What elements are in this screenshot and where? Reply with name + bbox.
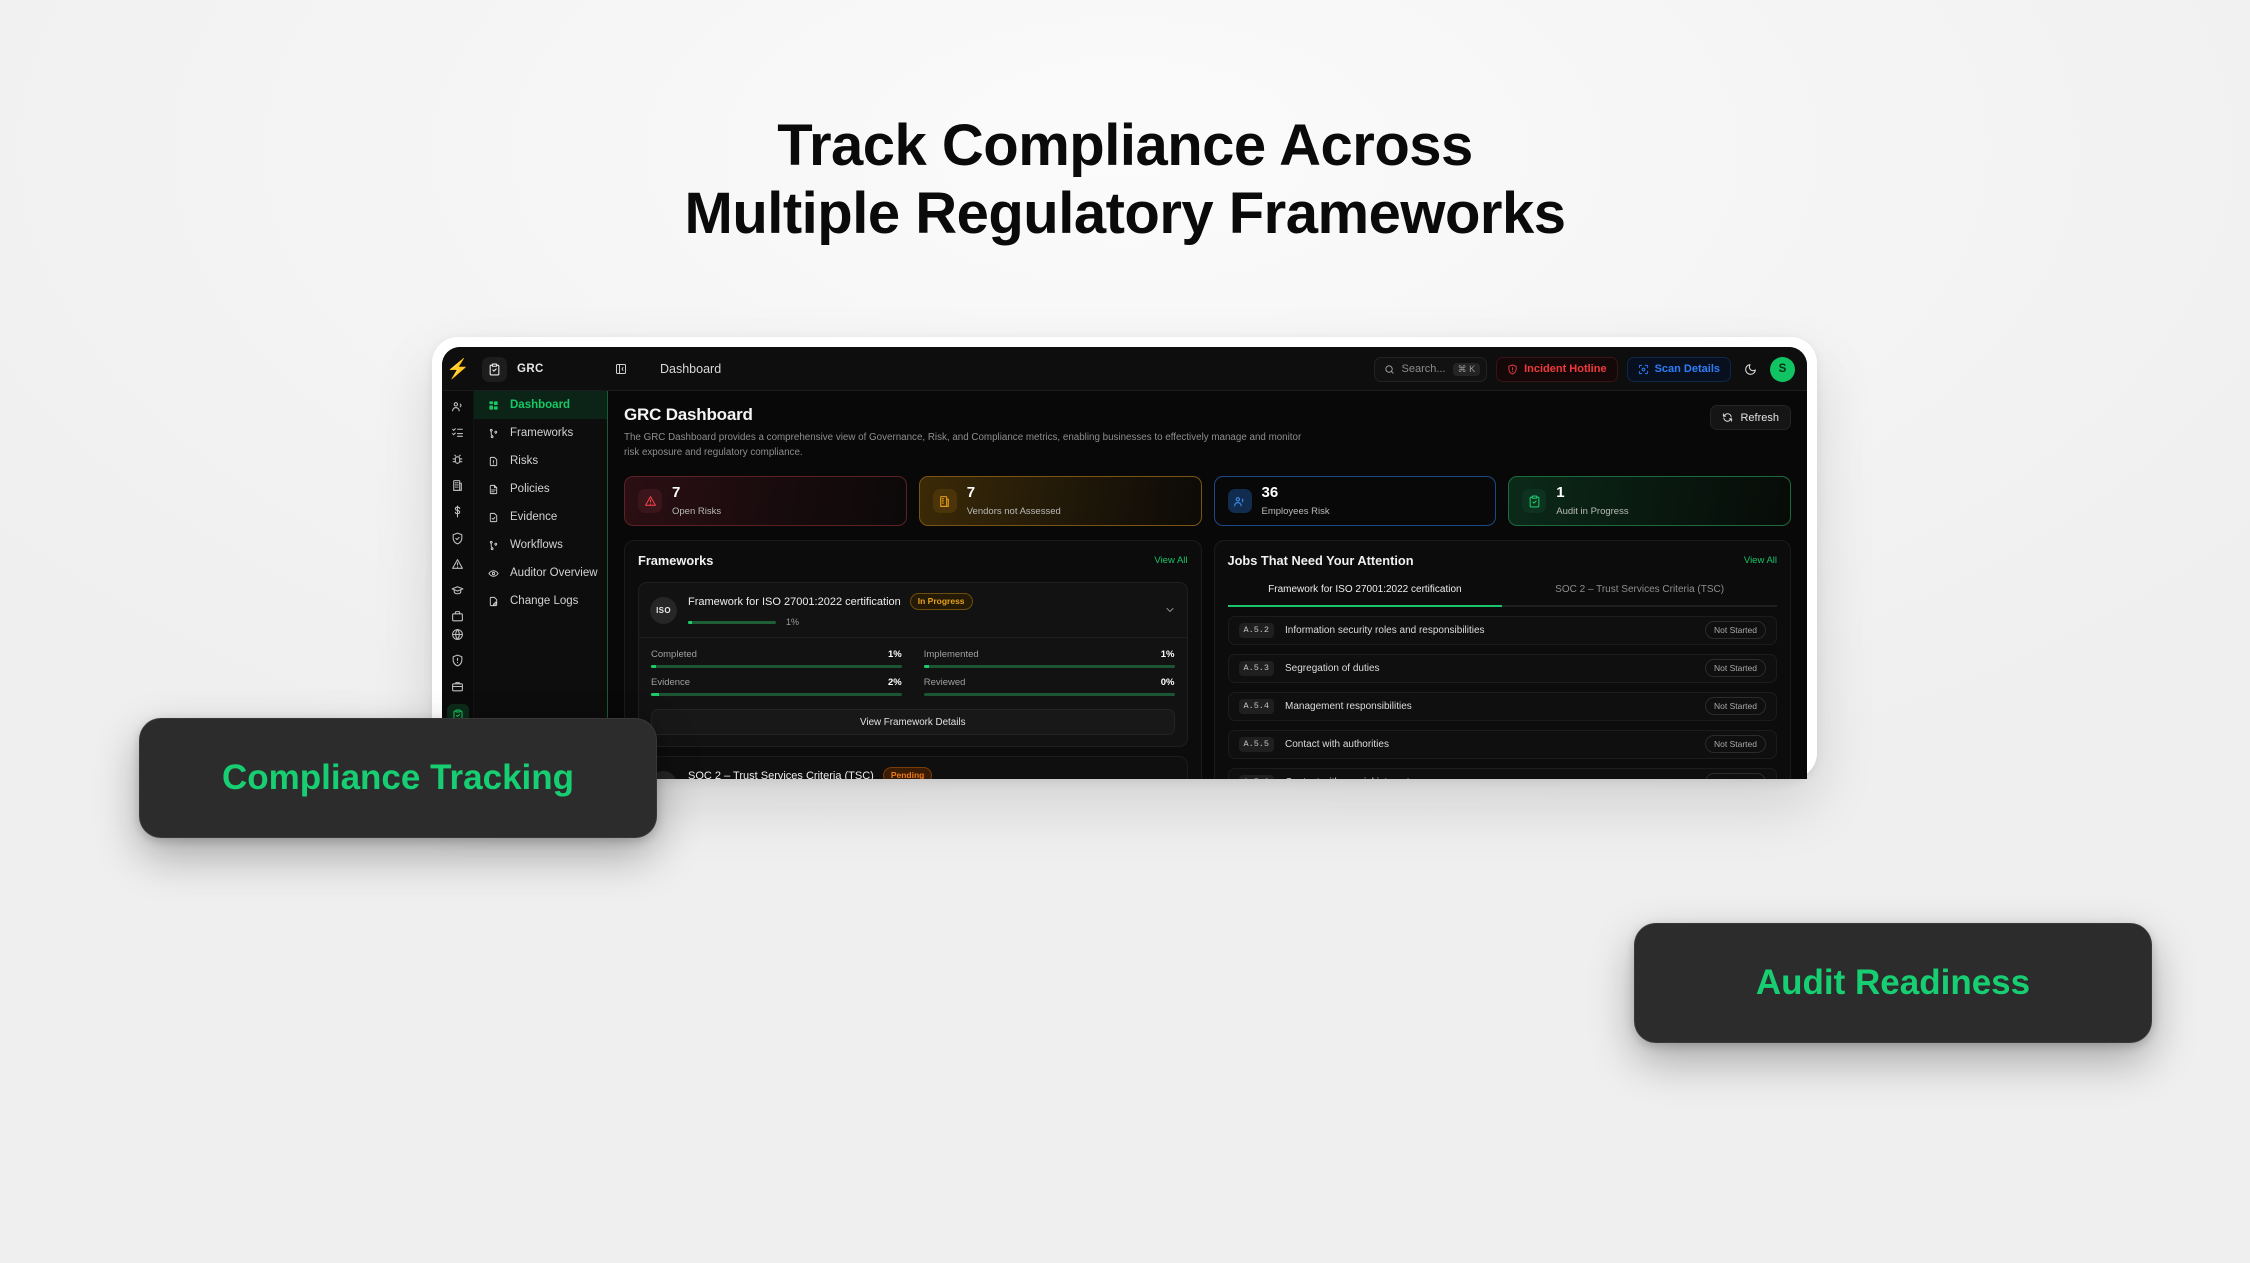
search-input[interactable]: Search... ⌘ K xyxy=(1374,357,1488,382)
sidebar-item-label: Evidence xyxy=(510,511,557,523)
file-alert-icon xyxy=(487,455,500,468)
sidebar-item-frameworks[interactable]: Frameworks xyxy=(474,419,607,447)
shield-exclamation-icon[interactable] xyxy=(442,652,474,669)
control-code: A.5.5 xyxy=(1239,737,1275,752)
sidebar-item-workflows[interactable]: Workflows xyxy=(474,531,607,559)
job-title: Contact with special interest groups xyxy=(1285,777,1443,779)
stat-value: 1 xyxy=(1556,484,1628,501)
metric-bar xyxy=(651,665,902,668)
logo-area[interactable]: ⚡ xyxy=(442,347,474,391)
sidebar-item-label: Risks xyxy=(510,455,538,467)
framework-list-item[interactable]: SOC SOC 2 – Trust Services Criteria (TSC… xyxy=(638,756,1188,779)
status-badge: Not Started xyxy=(1705,697,1766,715)
sidebar-item-change-logs[interactable]: Change Logs xyxy=(474,587,607,615)
job-title: Management responsibilities xyxy=(1285,701,1412,712)
app-name: GRC xyxy=(517,363,544,375)
status-badge: Not Started xyxy=(1705,621,1766,639)
progress-bar xyxy=(688,621,776,624)
stat-card-vendors-not-assessed[interactable]: 7 Vendors not Assessed xyxy=(919,476,1202,526)
stat-label: Audit in Progress xyxy=(1556,506,1628,517)
jobs-panel-title: Jobs That Need Your Attention xyxy=(1228,553,1414,568)
refresh-label: Refresh xyxy=(1740,412,1779,424)
job-title: Contact with authorities xyxy=(1285,739,1389,750)
dollar-icon[interactable] xyxy=(442,503,474,520)
stat-label: Open Risks xyxy=(672,506,721,517)
framework-title: SOC 2 – Trust Services Criteria (TSC) xyxy=(688,770,874,779)
sidebar-item-label: Policies xyxy=(510,483,550,495)
bug-icon[interactable] xyxy=(442,451,474,468)
sidebar-item-policies[interactable]: Policies xyxy=(474,475,607,503)
stat-label: Vendors not Assessed xyxy=(967,506,1061,517)
panel-collapse-icon[interactable] xyxy=(612,360,630,378)
jobs-panel: Jobs That Need Your Attention View All F… xyxy=(1214,540,1792,779)
brand-block[interactable]: GRC xyxy=(474,347,640,391)
stat-card-open-risks[interactable]: 7 Open Risks xyxy=(624,476,907,526)
tab-iso-27001[interactable]: Framework for ISO 27001:2022 certificati… xyxy=(1228,583,1503,607)
sidebar-item-risks[interactable]: Risks xyxy=(474,447,607,475)
shield-alert-icon xyxy=(1507,364,1518,375)
progress-value: 1% xyxy=(786,617,799,627)
tab-soc-2[interactable]: SOC 2 – Trust Services Criteria (TSC) xyxy=(1502,583,1777,607)
stat-value: 7 xyxy=(967,484,1061,501)
floating-label-compliance-tracking: Compliance Tracking xyxy=(139,718,657,838)
scan-icon xyxy=(1638,364,1649,375)
lightning-bolt-icon: ⚡ xyxy=(446,360,470,379)
framework-card-body: Framework for ISO 27001:2022 certificati… xyxy=(688,593,1153,627)
users-icon xyxy=(1228,489,1252,513)
refresh-icon xyxy=(1722,412,1733,423)
sidebar-item-label: Dashboard xyxy=(510,399,570,411)
incident-hotline-button[interactable]: Incident Hotline xyxy=(1496,357,1618,382)
alert-triangle-icon[interactable] xyxy=(442,556,474,573)
framework-metrics: Completed1% Implemented1% Evidence2% xyxy=(639,637,1187,702)
page-title: Track Compliance Across Multiple Regulat… xyxy=(0,112,2250,249)
chevron-right-icon[interactable] xyxy=(1164,778,1176,779)
building-icon xyxy=(933,489,957,513)
metric-value: 2% xyxy=(888,677,902,688)
control-code: A.5.4 xyxy=(1239,699,1275,714)
sidebar-item-evidence[interactable]: Evidence xyxy=(474,503,607,531)
stat-value: 36 xyxy=(1262,484,1330,501)
frameworks-panel-header: Frameworks View All xyxy=(638,553,1188,568)
graduation-cap-icon[interactable] xyxy=(442,582,474,599)
main-header: GRC Dashboard The GRC Dashboard provides… xyxy=(624,405,1791,460)
status-badge: In Progress xyxy=(910,593,973,610)
framework-card-expanded[interactable]: ISO Framework for ISO 27001:2022 certifi… xyxy=(638,582,1188,747)
metric-label: Reviewed xyxy=(924,677,966,688)
sidebar-item-label: Frameworks xyxy=(510,427,573,439)
avatar[interactable]: S xyxy=(1770,357,1795,382)
framework-badge: ISO xyxy=(650,597,677,624)
headline-line-2: Multiple Regulatory Frameworks xyxy=(0,180,2250,248)
file-check-icon xyxy=(487,511,500,524)
eye-icon xyxy=(487,567,500,580)
framework-progress: 1% xyxy=(688,617,1153,627)
top-bar: ⚡ GRC Dashboard xyxy=(442,347,1807,391)
briefcase-alt-icon[interactable] xyxy=(442,608,474,625)
metric-bar xyxy=(924,693,1175,696)
frameworks-panel: Frameworks View All ISO Framework for IS… xyxy=(624,540,1202,779)
file-edit-icon xyxy=(487,595,500,608)
frameworks-view-all-link[interactable]: View All xyxy=(1154,555,1187,566)
metric-value: 0% xyxy=(1161,677,1175,688)
jobs-view-all-link[interactable]: View All xyxy=(1744,555,1777,566)
status-badge: Pending xyxy=(883,767,933,779)
top-actions: Search... ⌘ K Incident Hotline xyxy=(1374,357,1807,382)
metric-value: 1% xyxy=(888,649,902,660)
dashboard-panels: Frameworks View All ISO Framework for IS… xyxy=(624,540,1791,779)
jobs-tabs: Framework for ISO 27001:2022 certificati… xyxy=(1228,583,1778,607)
metric-label: Evidence xyxy=(651,677,690,688)
stat-label: Employees Risk xyxy=(1262,506,1330,517)
framework-title: Framework for ISO 27001:2022 certificati… xyxy=(688,596,901,608)
scan-details-label: Scan Details xyxy=(1655,363,1720,375)
incident-hotline-label: Incident Hotline xyxy=(1524,363,1607,375)
metric-implemented: Implemented1% xyxy=(924,649,1175,668)
metric-reviewed: Reviewed0% xyxy=(924,677,1175,696)
grid-icon xyxy=(487,399,500,412)
control-code: A.5.2 xyxy=(1239,623,1275,638)
floating-label-audit-readiness: Audit Readiness xyxy=(1634,923,2152,1043)
main-content: GRC Dashboard The GRC Dashboard provides… xyxy=(608,391,1807,779)
page-heading: GRC Dashboard xyxy=(624,405,1304,425)
sidebar-item-label: Auditor Overview xyxy=(510,567,598,579)
shield-check-icon[interactable] xyxy=(442,529,474,546)
clipboard-check-icon xyxy=(1522,489,1546,513)
laptop-mockup: ⚡ GRC Dashboard xyxy=(432,337,1817,779)
globe-icon[interactable] xyxy=(442,626,474,643)
job-row[interactable]: A.5.2 Information security roles and res… xyxy=(1228,616,1778,645)
alert-triangle-icon xyxy=(638,489,662,513)
sidebar-item-label: Workflows xyxy=(510,539,563,551)
metric-label: Implemented xyxy=(924,649,979,660)
metric-completed: Completed1% xyxy=(651,649,902,668)
scan-details-button[interactable]: Scan Details xyxy=(1627,357,1731,382)
search-placeholder: Search... xyxy=(1402,363,1446,375)
users-icon[interactable] xyxy=(442,398,474,415)
breadcrumb: Dashboard xyxy=(640,362,721,376)
app-screen: ⚡ GRC Dashboard xyxy=(442,347,1807,779)
metric-bar xyxy=(924,665,1175,668)
job-title: Segregation of duties xyxy=(1285,663,1380,674)
control-code: A.5.3 xyxy=(1239,661,1275,676)
git-branch-icon xyxy=(487,427,500,440)
building-icon[interactable] xyxy=(442,477,474,494)
metric-label: Completed xyxy=(651,649,697,660)
metric-value: 1% xyxy=(1161,649,1175,660)
status-badge: Not Started xyxy=(1705,773,1766,779)
view-framework-details-button[interactable]: View Framework Details xyxy=(651,709,1175,735)
stat-value: 7 xyxy=(672,484,721,501)
job-row[interactable]: A.5.3 Segregation of duties Not Started xyxy=(1228,654,1778,683)
sidebar-item-label: Change Logs xyxy=(510,595,578,607)
framework-card-header[interactable]: ISO Framework for ISO 27001:2022 certifi… xyxy=(639,583,1187,637)
headline-line-1: Track Compliance Across xyxy=(0,112,2250,180)
page-description: The GRC Dashboard provides a comprehensi… xyxy=(624,431,1304,460)
framework-title-line: Framework for ISO 27001:2022 certificati… xyxy=(688,593,1153,610)
job-title: Information security roles and responsib… xyxy=(1285,625,1485,636)
frameworks-panel-title: Frameworks xyxy=(638,553,713,568)
sidebar-item-auditor-overview[interactable]: Auditor Overview xyxy=(474,559,607,587)
clipboard-check-icon xyxy=(482,357,507,382)
briefcase-icon[interactable] xyxy=(442,678,474,695)
control-code: A.5.6 xyxy=(1239,775,1275,779)
metric-evidence: Evidence2% xyxy=(651,677,902,696)
metric-bar xyxy=(651,693,902,696)
git-branch-icon xyxy=(487,539,500,552)
avatar-initial: S xyxy=(1779,363,1787,375)
file-text-icon xyxy=(487,483,500,496)
sidebar-item-dashboard[interactable]: Dashboard xyxy=(474,391,607,419)
checklist-icon[interactable] xyxy=(442,424,474,441)
stat-card-employees-risk[interactable]: 36 Employees Risk xyxy=(1214,476,1497,526)
job-row[interactable]: A.5.4 Management responsibilities Not St… xyxy=(1228,692,1778,721)
stat-cards: 7 Open Risks 7 Vendors not Assessed xyxy=(624,476,1791,526)
job-row[interactable]: A.5.5 Contact with authorities Not Start… xyxy=(1228,730,1778,759)
jobs-panel-header: Jobs That Need Your Attention View All xyxy=(1228,553,1778,568)
chevron-down-icon[interactable] xyxy=(1164,604,1176,616)
search-shortcut: ⌘ K xyxy=(1453,363,1481,376)
status-badge: Not Started xyxy=(1705,659,1766,677)
job-row[interactable]: A.5.6 Contact with special interest grou… xyxy=(1228,768,1778,779)
stat-card-audit-in-progress[interactable]: 1 Audit in Progress xyxy=(1508,476,1791,526)
refresh-button[interactable]: Refresh xyxy=(1710,405,1791,430)
moon-icon[interactable] xyxy=(1740,363,1761,376)
status-badge: Not Started xyxy=(1705,735,1766,753)
search-icon xyxy=(1384,364,1395,375)
